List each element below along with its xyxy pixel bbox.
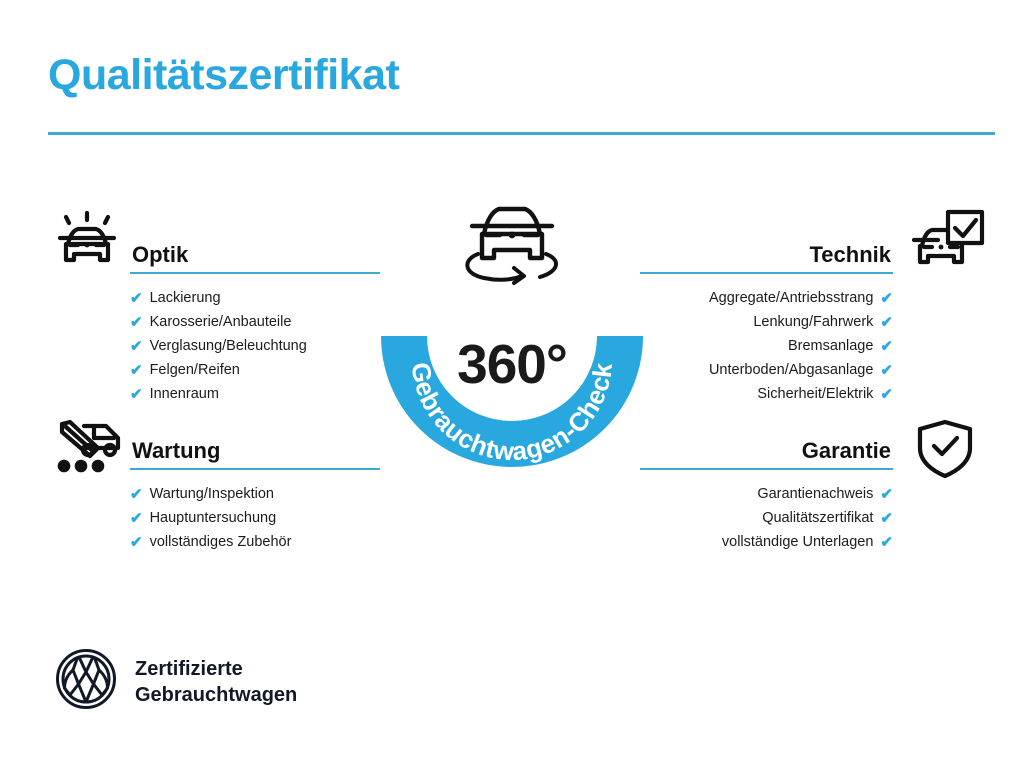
section-title-wartung: Wartung <box>132 438 220 464</box>
footer-brand-text: Zertifizierte Gebrauchtwagen <box>135 656 297 708</box>
list-item: ✔Karosserie/Anbauteile <box>130 310 380 334</box>
list-item-label: vollständige Unterlagen <box>722 530 874 554</box>
section-header-technik: Technik <box>640 232 893 274</box>
list-item: ✔Aggregate/Antriebsstrang <box>640 286 893 310</box>
car-polish-icon <box>48 208 126 275</box>
check-icon: ✔ <box>880 511 893 526</box>
list-item-label: Wartung/Inspektion <box>150 482 274 506</box>
list-item-label: Verglasung/Beleuchtung <box>150 334 307 358</box>
check-icon: ✔ <box>130 387 143 402</box>
car-checkbox-icon <box>908 208 986 275</box>
list-item-label: Unterboden/Abgasanlage <box>709 358 873 382</box>
vw-logo <box>55 648 117 715</box>
section-header-optik: Optik <box>130 232 380 274</box>
section-divider-technik <box>640 272 893 275</box>
check-icon: ✔ <box>130 315 143 330</box>
badge-center-label: 360° <box>378 332 646 396</box>
list-item: ✔Qualitätszertifikat <box>640 506 893 530</box>
section-divider-garantie <box>640 468 893 471</box>
list-item: ✔Innenraum <box>130 382 380 406</box>
list-item-label: vollständiges Zubehör <box>150 530 292 554</box>
check-icon: ✔ <box>880 339 893 354</box>
list-item-label: Sicherheit/Elektrik <box>757 382 873 406</box>
section-header-garantie: Garantie <box>640 428 893 470</box>
list-item: ✔Hauptuntersuchung <box>130 506 380 530</box>
check-icon: ✔ <box>130 511 143 526</box>
list-item-label: Bremsanlage <box>788 334 873 358</box>
check-icon: ✔ <box>130 291 143 306</box>
page-title: Qualitätszertifikat <box>48 52 399 99</box>
check-icon: ✔ <box>880 387 893 402</box>
checklist-garantie: ✔Garantienachweis ✔Qualitätszertifikat ✔… <box>640 482 893 554</box>
list-item: ✔Bremsanlage <box>640 334 893 358</box>
list-item: ✔vollständiges Zubehör <box>130 530 380 554</box>
check-icon: ✔ <box>130 363 143 378</box>
list-item-label: Garantienachweis <box>757 482 873 506</box>
section-divider-wartung <box>130 468 380 471</box>
list-item: ✔Garantienachweis <box>640 482 893 506</box>
car-service-pen-icon <box>48 418 126 479</box>
section-garantie: Garantie ✔Garantienachweis ✔Qualitätszer… <box>640 428 893 554</box>
section-title-technik: Technik <box>809 242 891 268</box>
list-item-label: Karosserie/Anbauteile <box>150 310 292 334</box>
check-icon: ✔ <box>880 487 893 502</box>
list-item-label: Lackierung <box>150 286 221 310</box>
list-item-label: Qualitätszertifikat <box>762 506 873 530</box>
shield-check-icon <box>912 418 978 485</box>
car-rotation-icon <box>454 188 570 293</box>
section-title-garantie: Garantie <box>802 438 891 464</box>
check-icon: ✔ <box>880 315 893 330</box>
list-item-label: Aggregate/Antriebsstrang <box>709 286 873 310</box>
check-icon: ✔ <box>880 363 893 378</box>
list-item: ✔Unterboden/Abgasanlage <box>640 358 893 382</box>
section-wartung: Wartung ✔Wartung/Inspektion ✔Hauptunters… <box>130 428 380 554</box>
footer-line-2: Gebrauchtwagen <box>135 682 297 708</box>
checklist-wartung: ✔Wartung/Inspektion ✔Hauptuntersuchung ✔… <box>130 482 380 554</box>
section-title-optik: Optik <box>132 242 188 268</box>
section-divider-optik <box>130 272 380 275</box>
title-divider <box>48 132 995 135</box>
check-icon: ✔ <box>130 535 143 550</box>
section-header-wartung: Wartung <box>130 428 380 470</box>
list-item: ✔vollständige Unterlagen <box>640 530 893 554</box>
list-item-label: Felgen/Reifen <box>150 358 240 382</box>
checklist-optik: ✔Lackierung ✔Karosserie/Anbauteile ✔Verg… <box>130 286 380 406</box>
list-item-label: Innenraum <box>150 382 219 406</box>
list-item-label: Hauptuntersuchung <box>150 506 277 530</box>
check-icon: ✔ <box>130 339 143 354</box>
section-technik: Technik ✔Aggregate/Antriebsstrang ✔Lenku… <box>640 232 893 406</box>
list-item: ✔Felgen/Reifen <box>130 358 380 382</box>
list-item: ✔Lenkung/Fahrwerk <box>640 310 893 334</box>
check-icon: ✔ <box>130 487 143 502</box>
list-item: ✔Verglasung/Beleuchtung <box>130 334 380 358</box>
check-icon: ✔ <box>880 535 893 550</box>
list-item: ✔Lackierung <box>130 286 380 310</box>
footer-line-1: Zertifizierte <box>135 656 297 682</box>
check-icon: ✔ <box>880 291 893 306</box>
list-item-label: Lenkung/Fahrwerk <box>753 310 873 334</box>
footer-brand: Zertifizierte Gebrauchtwagen <box>55 648 297 715</box>
checklist-technik: ✔Aggregate/Antriebsstrang ✔Lenkung/Fahrw… <box>640 286 893 406</box>
list-item: ✔Sicherheit/Elektrik <box>640 382 893 406</box>
badge-360-check: Gebrauchtwagen-Check 360° <box>378 250 646 480</box>
list-item: ✔Wartung/Inspektion <box>130 482 380 506</box>
section-optik: Optik ✔Lackierung ✔Karosserie/Anbauteile… <box>130 232 380 406</box>
